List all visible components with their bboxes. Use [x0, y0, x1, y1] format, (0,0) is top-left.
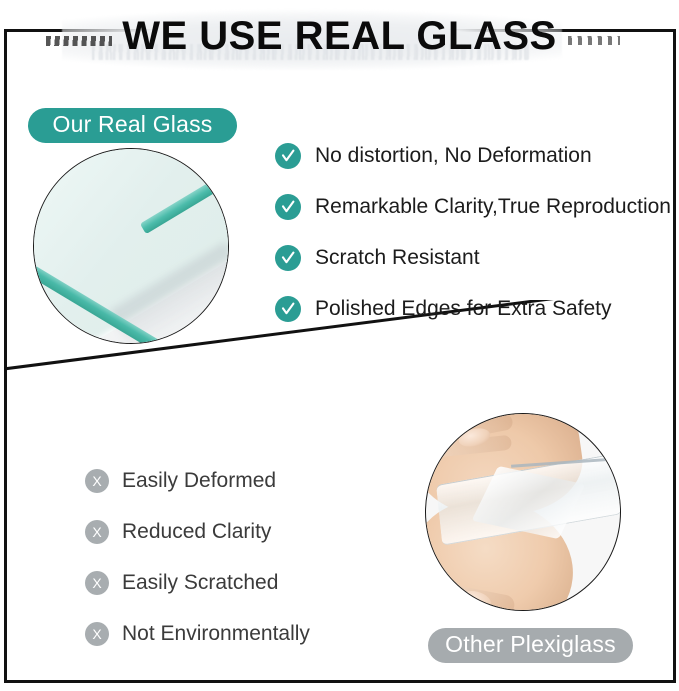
list-item-label: Remarkable Clarity,True Reproduction [315, 195, 671, 219]
list-item: X Reduced Clarity [85, 506, 310, 557]
list-item-label: Scratch Resistant [315, 246, 480, 270]
plexiglass-photo [425, 413, 621, 611]
list-item: X Easily Scratched [85, 557, 310, 608]
check-circle-icon [275, 296, 301, 322]
list-item: Remarkable Clarity,True Reproduction [275, 181, 671, 232]
badge-other-plexiglass-label: Other Plexiglass [445, 631, 616, 658]
list-item-label: Reduced Clarity [122, 520, 271, 544]
list-item-label: No distortion, No Deformation [315, 144, 592, 168]
x-circle-icon: X [85, 469, 109, 493]
x-circle-icon: X [85, 571, 109, 595]
plexiglass-drawback-list: X Easily Deformed X Reduced Clarity X Ea… [85, 455, 310, 659]
list-item-label: Not Environmentally [122, 622, 310, 646]
list-item: No distortion, No Deformation [275, 130, 671, 181]
check-circle-icon [275, 194, 301, 220]
badge-our-real-glass-label: Our Real Glass [52, 111, 212, 138]
x-circle-icon: X [85, 622, 109, 646]
real-glass-feature-list: No distortion, No Deformation Remarkable… [275, 130, 671, 334]
badge-other-plexiglass: Other Plexiglass [428, 628, 633, 663]
list-item-label: Polished Edges for Extra Safety [315, 297, 612, 321]
check-circle-icon [275, 143, 301, 169]
list-item: Polished Edges for Extra Safety [275, 283, 671, 334]
real-glass-photo [33, 148, 229, 344]
list-item-label: Easily Deformed [122, 469, 276, 493]
page-title: WE USE REAL GLASS [0, 14, 679, 59]
badge-our-real-glass: Our Real Glass [28, 108, 237, 143]
infographic-page: WE USE REAL GLASS Our Real Glass No dist… [0, 0, 679, 691]
list-item-label: Easily Scratched [122, 571, 278, 595]
x-circle-icon: X [85, 520, 109, 544]
list-item: X Not Environmentally [85, 608, 310, 659]
list-item: Scratch Resistant [275, 232, 671, 283]
list-item: X Easily Deformed [85, 455, 310, 506]
check-circle-icon [275, 245, 301, 271]
